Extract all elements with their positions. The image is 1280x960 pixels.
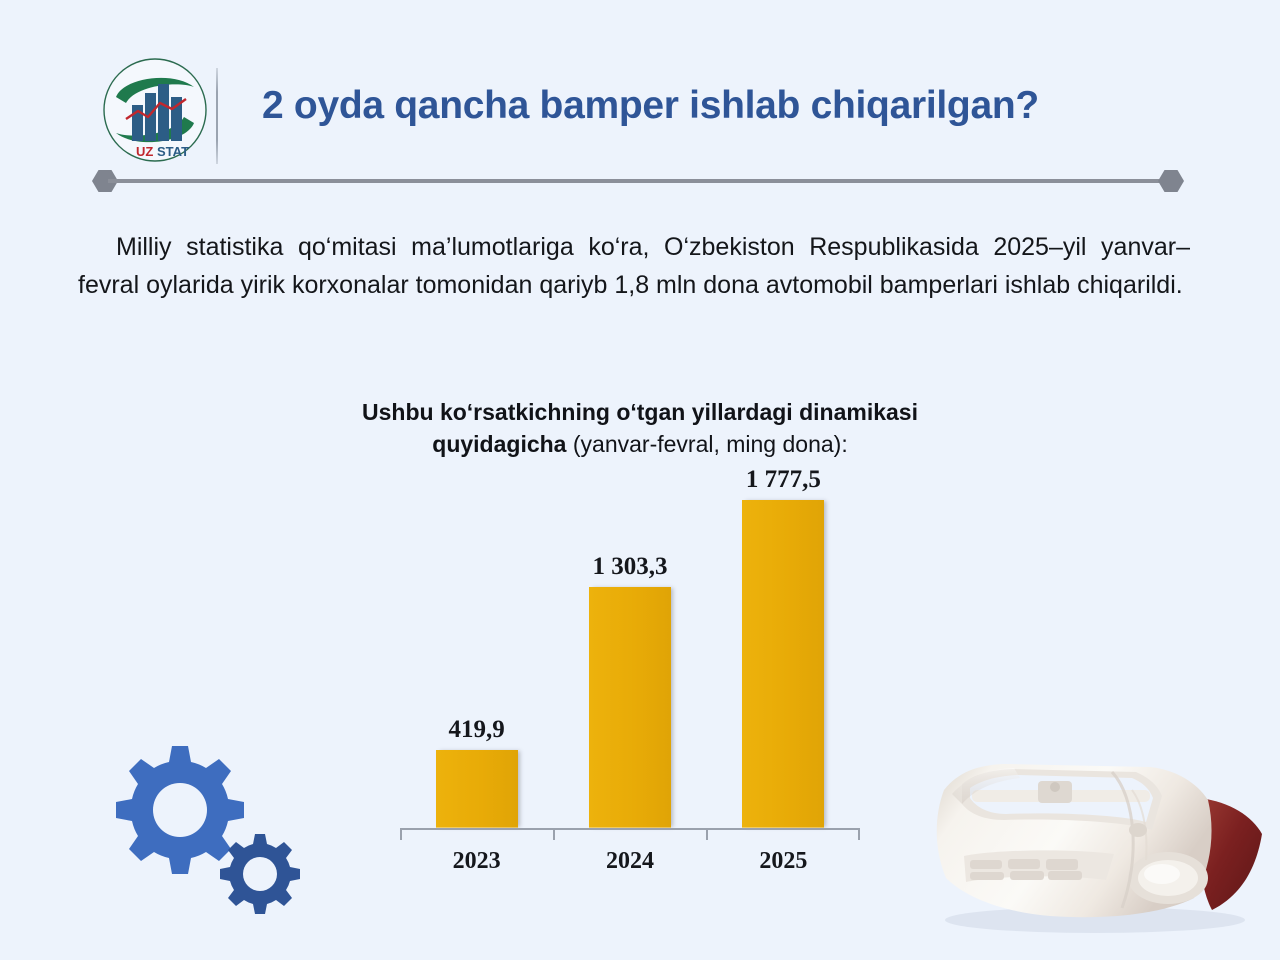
header-divider [92, 170, 1184, 192]
category-label-2023: 2023 [400, 848, 553, 875]
small-gear-icon [220, 834, 300, 914]
gears-icon [112, 742, 312, 922]
axis-line [400, 828, 860, 830]
bar-value-label-2025: 1 777,5 [693, 466, 873, 494]
header-vertical-divider [216, 68, 218, 164]
category-label-2024: 2024 [553, 848, 706, 875]
large-gear-icon [116, 746, 244, 874]
body-paragraph: Milliy statistika qo‘mitasi ma’lumotlari… [78, 228, 1190, 304]
svg-text:UZ: UZ [136, 144, 153, 159]
chart-caption: Ushbu ko‘rsatkichning o‘tgan yillardagi … [190, 396, 1090, 460]
car-bumper-icon [900, 738, 1280, 938]
uzstat-logo-icon: UZ STAT [102, 57, 208, 163]
car-bumper-image [900, 738, 1280, 938]
uzstat-logo: UZ STAT [102, 57, 208, 163]
axis-tick [553, 828, 555, 840]
caption-bold-line1: Ushbu ko‘rsatkichning o‘tgan yillardagi … [362, 399, 918, 425]
hexagon-marker-right [1158, 170, 1184, 192]
axis-tick [706, 828, 708, 840]
caption-bold-line2: quyidagicha [432, 431, 566, 457]
bar-2023 [436, 750, 518, 828]
svg-text:STAT: STAT [157, 144, 189, 159]
bar-chart: 419,9 1 303,3 1 777,5 2023 2024 2025 [340, 470, 940, 870]
bar-2025 [742, 500, 824, 828]
caption-normal-tail: (yanvar-fevral, ming dona): [566, 431, 847, 457]
bar-2024 [589, 587, 671, 828]
chart-x-axis [400, 828, 860, 829]
chart-plot-area: 419,9 1 303,3 1 777,5 [340, 470, 940, 830]
paragraph-text: Milliy statistika qo‘mitasi ma’lumotlari… [78, 233, 1190, 299]
divider-line [108, 179, 1168, 183]
axis-tick [400, 828, 402, 840]
bar-value-label-2023: 419,9 [387, 716, 567, 744]
infographic-page: UZ STAT 2 oyda qancha bamper ishlab chiq… [0, 0, 1280, 960]
bar-value-label-2024: 1 303,3 [540, 553, 720, 581]
category-label-2025: 2025 [707, 848, 860, 875]
page-title: 2 oyda qancha bamper ishlab chiqarilgan? [262, 84, 1212, 129]
chart-category-labels: 2023 2024 2025 [400, 848, 860, 882]
gears-decoration [112, 742, 312, 922]
axis-tick [858, 828, 860, 840]
